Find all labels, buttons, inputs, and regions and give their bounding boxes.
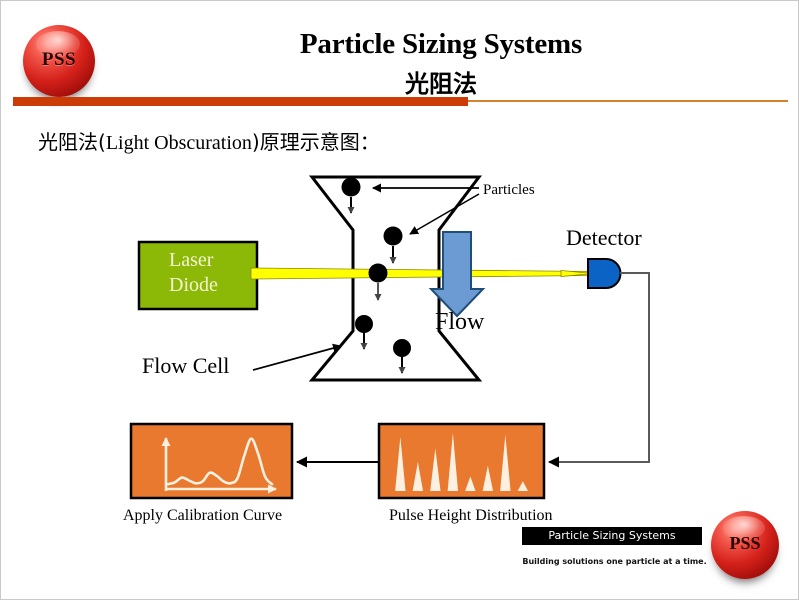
- footer-logo-mark-text: PSS: [711, 533, 779, 554]
- footer-tagline: Building solutions one particle at a tim…: [522, 557, 707, 566]
- laser-beam: [251, 268, 589, 279]
- calibration-curve-box: [131, 424, 292, 498]
- laser-diode-label: Laser Diode: [169, 248, 218, 298]
- detector-label: Detector: [566, 225, 642, 251]
- slide-canvas: PSS Particle Sizing Systems 光阻法 光阻法(Ligh…: [0, 0, 799, 600]
- detector-shape: [588, 259, 621, 288]
- footer-brand-text: Particle Sizing Systems: [522, 527, 702, 545]
- pulse-height-distribution-label: Pulse Height Distribution: [389, 507, 553, 525]
- footer-brand-bar: Particle Sizing Systems: [522, 527, 702, 545]
- particle: [384, 227, 403, 246]
- flow-cell-label: Flow Cell: [142, 353, 229, 379]
- apply-calibration-curve-label: Apply Calibration Curve: [123, 507, 282, 525]
- particle: [355, 315, 373, 333]
- particles-label: Particles: [483, 182, 535, 199]
- particle: [393, 339, 411, 357]
- laser-diode-label-line1: Laser: [169, 248, 218, 273]
- particle: [369, 264, 388, 283]
- particle: [342, 178, 361, 197]
- footer-logo: PSS: [711, 511, 783, 585]
- laser-diode-label-line2: Diode: [169, 273, 218, 298]
- detector-to-pulse-wire: [549, 273, 649, 462]
- flow-label: Flow: [435, 309, 484, 336]
